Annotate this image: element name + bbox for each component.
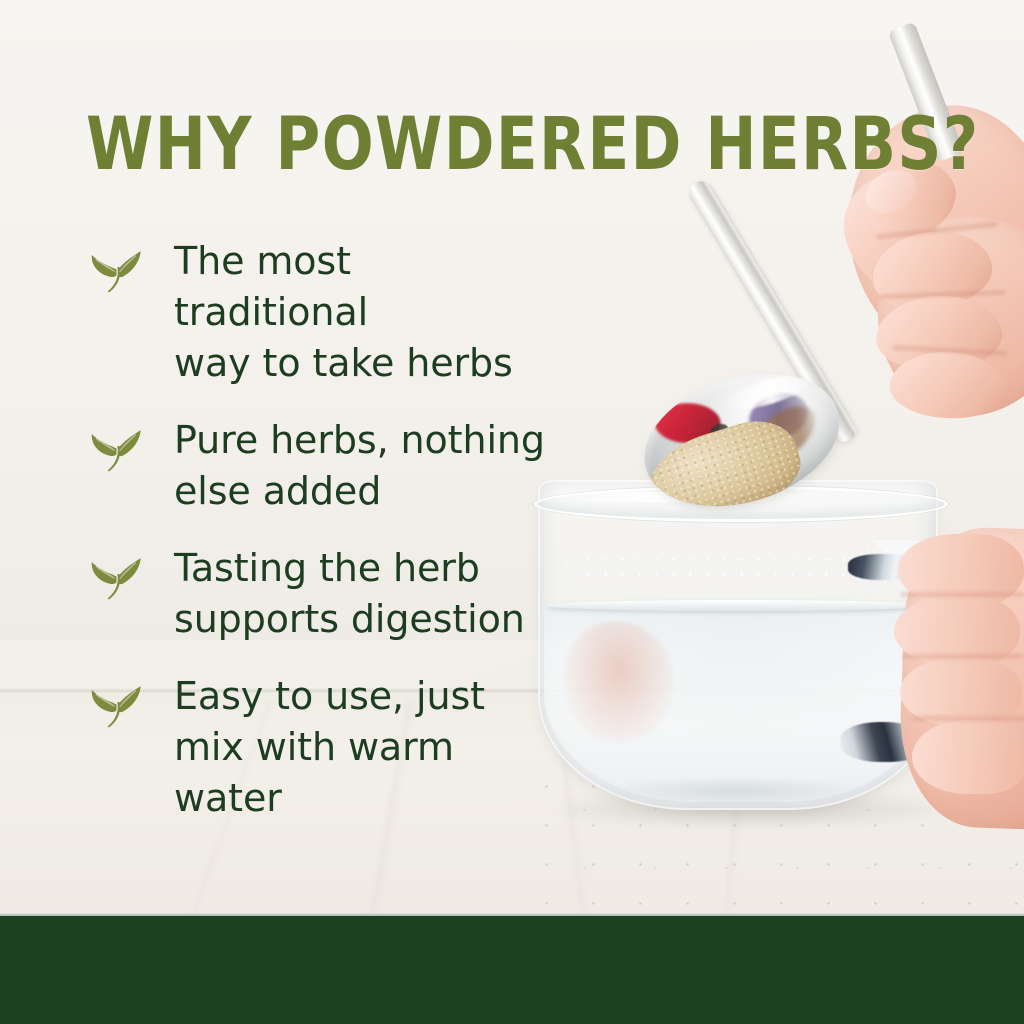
mug-base (600, 776, 870, 806)
benefits-list: The most traditional way to take herbs P… (86, 236, 556, 850)
mug-hand-crease-3 (912, 716, 1024, 721)
leaf-sprig-icon (86, 675, 148, 737)
mug-hand-finger-4 (912, 720, 1024, 794)
list-item: Tasting the herb supports digestion (86, 543, 556, 645)
list-item-label: The most traditional way to take herbs (174, 236, 556, 389)
water-bubbles (580, 552, 880, 588)
list-item-label: Easy to use, just mix with warm water (174, 671, 485, 824)
mug-hand-crease-2 (902, 654, 1024, 659)
leaf-sprig-icon (86, 240, 148, 302)
infographic-canvas: WHY POWDERED HERBS? The most traditional… (0, 0, 1024, 1024)
mug-hand-crease-1 (900, 592, 1024, 597)
water-surface-line (546, 600, 930, 611)
list-item: Easy to use, just mix with warm water (86, 671, 556, 824)
list-item: The most traditional way to take herbs (86, 236, 556, 389)
page-title: WHY POWDERED HERBS? (86, 108, 980, 181)
list-item-label: Pure herbs, nothing else added (174, 415, 545, 517)
list-item-label: Tasting the herb supports digestion (174, 543, 525, 645)
leaf-sprig-icon (86, 419, 148, 481)
list-item: Pure herbs, nothing else added (86, 415, 556, 517)
leaf-sprig-icon (86, 547, 148, 609)
footer-band (0, 916, 1024, 1024)
mug-refraction-tint (564, 622, 674, 742)
